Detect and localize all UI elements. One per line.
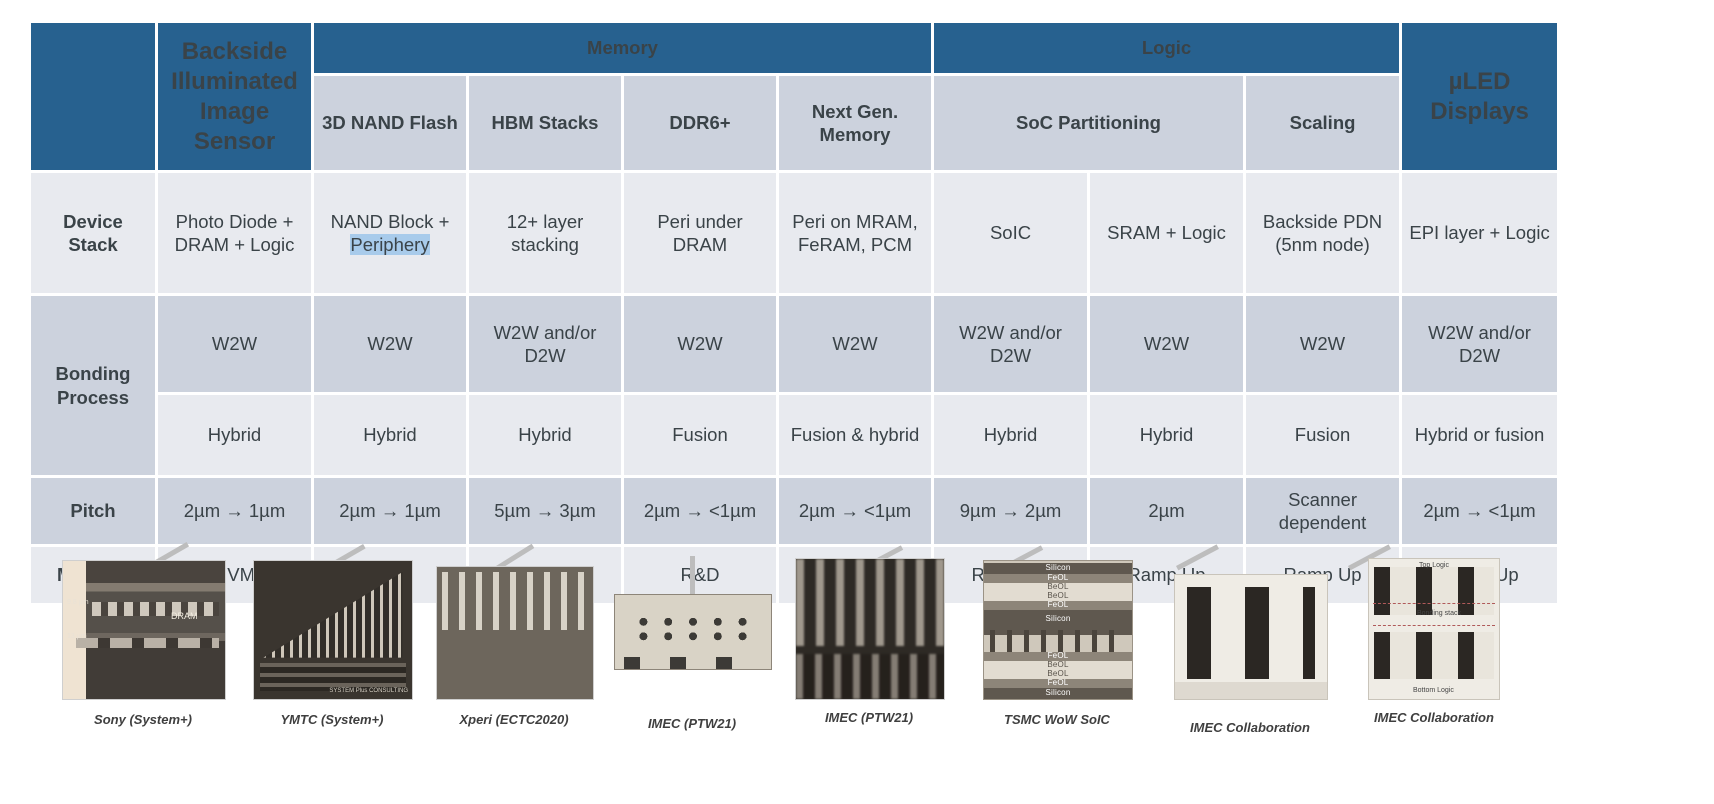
diagram-imec-ptw21[interactable] [614, 594, 772, 670]
figure-caption: YMTC (System+) [231, 712, 433, 727]
micrograph-ymtc[interactable]: SYSTEM Plus CONSULTING [253, 560, 413, 700]
dram-label: DRAM [171, 611, 198, 621]
label-bottom-logic: Bottom Logic [1413, 687, 1454, 694]
bond-interface-line-bottom [1373, 625, 1495, 626]
header-corner-cell [31, 23, 155, 170]
cell-device-stack-scaling[interactable]: Backside PDN (5nm node) [1246, 173, 1399, 293]
table-row: Bonding Process W2W W2W W2W and/or D2W W… [31, 296, 1557, 392]
bond-interface-line-top [1373, 603, 1495, 604]
figure-caption: Xperi (ECTC2020) [414, 712, 614, 727]
leader-line-7 [1176, 544, 1219, 570]
cell-pitch-bsi[interactable]: 2µm → 1µm [158, 478, 311, 544]
figure-caption: TSMC WoW SoIC [957, 712, 1157, 727]
header-group-logic[interactable]: Logic [934, 23, 1399, 73]
figure-ymtc: SYSTEM Plus CONSULTING YMTC (System+) [253, 560, 413, 700]
cell-device-stack-soic[interactable]: SoIC [934, 173, 1087, 293]
cell-bonding-type-soic[interactable]: W2W and/or D2W [934, 296, 1087, 392]
figure-strip: 9.8 µm 13 µm DRAM Sony (System+) SYSTEM … [0, 548, 1714, 804]
cell-bonding-method-3d-nand[interactable]: Hybrid [314, 395, 466, 475]
cell-bonding-method-soic[interactable]: Hybrid [934, 395, 1087, 475]
cell-bonding-type-ddr6[interactable]: W2W [624, 296, 776, 392]
cell-device-stack-sram[interactable]: SRAM + Logic [1090, 173, 1243, 293]
cell-pitch-sram[interactable]: 2µm [1090, 478, 1243, 544]
micrograph-imec-collab-1[interactable] [1174, 574, 1328, 700]
cell-device-stack-3d-nand[interactable]: NAND Block + Periphery [314, 173, 466, 293]
leader-line-4 [690, 556, 695, 598]
cell-bonding-method-bsi[interactable]: Hybrid [158, 395, 311, 475]
cell-device-stack-hbm[interactable]: 12+ layer stacking [469, 173, 621, 293]
subheader-3d-nand-flash[interactable]: 3D NAND Flash [314, 76, 466, 170]
subheader-scaling[interactable]: Scaling [1246, 76, 1399, 170]
subheader-ddr6-plus[interactable]: DDR6+ [624, 76, 776, 170]
micrograph-xperi[interactable] [436, 566, 594, 700]
scale-label-top: 9.8 µm [67, 599, 89, 606]
subheader-next-gen-memory[interactable]: Next Gen. Memory [779, 76, 931, 170]
cell-bonding-method-scaling[interactable]: Fusion [1246, 395, 1399, 475]
through-silicon-vias [990, 630, 1126, 652]
watermark-text: SYSTEM Plus CONSULTING [329, 688, 408, 695]
figure-caption: IMEC (PTW21) [769, 710, 969, 725]
cell-pitch-soic[interactable]: 9µm → 2µm [934, 478, 1087, 544]
figure-imec-ptw21-schematic: IMEC (PTW21) [614, 594, 772, 670]
figure-caption: IMEC Collaboration [1334, 710, 1534, 725]
stack-layer: Silicon [984, 688, 1132, 700]
micrograph-imec-collab-2[interactable]: Top Logic Bonding stack Bottom Logic [1368, 558, 1500, 700]
cell-bonding-type-hbm[interactable]: W2W and/or D2W [469, 296, 621, 392]
row-label-device-stack: Device Stack [31, 173, 155, 293]
header-uled-displays[interactable]: µLED Displays [1402, 23, 1557, 170]
scale-label-bottom: 13 µm [67, 633, 87, 640]
cell-pitch-scaling[interactable]: Scanner dependent [1246, 478, 1399, 544]
table-row: Device Stack Photo Diode + DRAM + Logic … [31, 173, 1557, 293]
cell-bonding-type-bsi[interactable]: W2W [158, 296, 311, 392]
cell-device-stack-bsi[interactable]: Photo Diode + DRAM + Logic [158, 173, 311, 293]
cell-pitch-ddr6[interactable]: 2µm → <1µm [624, 478, 776, 544]
cell-device-stack-ddr6[interactable]: Peri under DRAM [624, 173, 776, 293]
bonding-applications-table: Backside Illuminated Image Sensor Memory… [28, 20, 1560, 606]
row-label-pitch: Pitch [31, 478, 155, 544]
cell-bonding-type-uled[interactable]: W2W and/or D2W [1402, 296, 1557, 392]
cell-bonding-type-scaling[interactable]: W2W [1246, 296, 1399, 392]
row-label-bonding-process: Bonding Process [31, 296, 155, 475]
table-row: Pitch 2µm → 1µm 2µm → 1µm 5µm → 3µm 2µm … [31, 478, 1557, 544]
header-backside-illuminated-image-sensor[interactable]: Backside Illuminated Image Sensor [158, 23, 311, 170]
cell-bonding-type-3d-nand[interactable]: W2W [314, 296, 466, 392]
cell-pitch-uled[interactable]: 2µm → <1µm [1402, 478, 1557, 544]
cell-bonding-method-hbm[interactable]: Hybrid [469, 395, 621, 475]
figure-caption: IMEC Collaboration [1150, 720, 1350, 735]
cell-device-stack-nextgen[interactable]: Peri on MRAM, FeRAM, PCM [779, 173, 931, 293]
highlighted-text-periphery[interactable]: Periphery [350, 234, 429, 255]
micrograph-sony[interactable]: 9.8 µm 13 µm DRAM [62, 560, 226, 700]
cell-bonding-method-uled[interactable]: Hybrid or fusion [1402, 395, 1557, 475]
label-top-logic: Top Logic [1419, 562, 1449, 569]
cell-text-prefix: NAND Block + [331, 211, 450, 232]
cell-pitch-3d-nand[interactable]: 2µm → 1µm [314, 478, 466, 544]
figure-caption: Sony (System+) [42, 712, 244, 727]
figure-sony: 9.8 µm 13 µm DRAM Sony (System+) [62, 560, 226, 700]
label-bonding-stack: Bonding stack [1417, 610, 1461, 617]
stack-layer: FeOL [984, 679, 1132, 688]
cell-device-stack-uled[interactable]: EPI layer + Logic [1402, 173, 1557, 293]
figure-imec-ptw21-sem: IMEC (PTW21) [795, 558, 945, 700]
cell-pitch-nextgen[interactable]: 2µm → <1µm [779, 478, 931, 544]
figure-imec-collab-1: IMEC Collaboration [1174, 574, 1328, 700]
figure-caption: IMEC (PTW21) [592, 716, 792, 731]
subheader-hbm-stacks[interactable]: HBM Stacks [469, 76, 621, 170]
stack-layer: FeOL [984, 601, 1132, 610]
subheader-soc-partitioning[interactable]: SoC Partitioning [934, 76, 1243, 170]
figure-tsmc-wow-soic: Silicon FeOL BeOL BeOL FeOL Silicon FeOL… [983, 560, 1133, 700]
figure-xperi: Xperi (ECTC2020) [436, 566, 594, 700]
cell-pitch-hbm[interactable]: 5µm → 3µm [469, 478, 621, 544]
cell-bonding-method-ddr6[interactable]: Fusion [624, 395, 776, 475]
cell-bonding-type-nextgen[interactable]: W2W [779, 296, 931, 392]
micrograph-imec-ptw21[interactable] [795, 558, 945, 700]
figure-imec-collab-2: Top Logic Bonding stack Bottom Logic IME… [1368, 558, 1500, 700]
header-group-memory[interactable]: Memory [314, 23, 931, 73]
cell-bonding-method-sram[interactable]: Hybrid [1090, 395, 1243, 475]
slide-canvas: Backside Illuminated Image Sensor Memory… [0, 0, 1714, 804]
cell-bonding-type-sram[interactable]: W2W [1090, 296, 1243, 392]
cell-bonding-method-nextgen[interactable]: Fusion & hybrid [779, 395, 931, 475]
diagram-tsmc-wow-soic[interactable]: Silicon FeOL BeOL BeOL FeOL Silicon FeOL… [983, 560, 1133, 700]
table-group-header-row: Backside Illuminated Image Sensor Memory… [31, 23, 1557, 73]
table-row: Hybrid Hybrid Hybrid Fusion Fusion & hyb… [31, 395, 1557, 475]
